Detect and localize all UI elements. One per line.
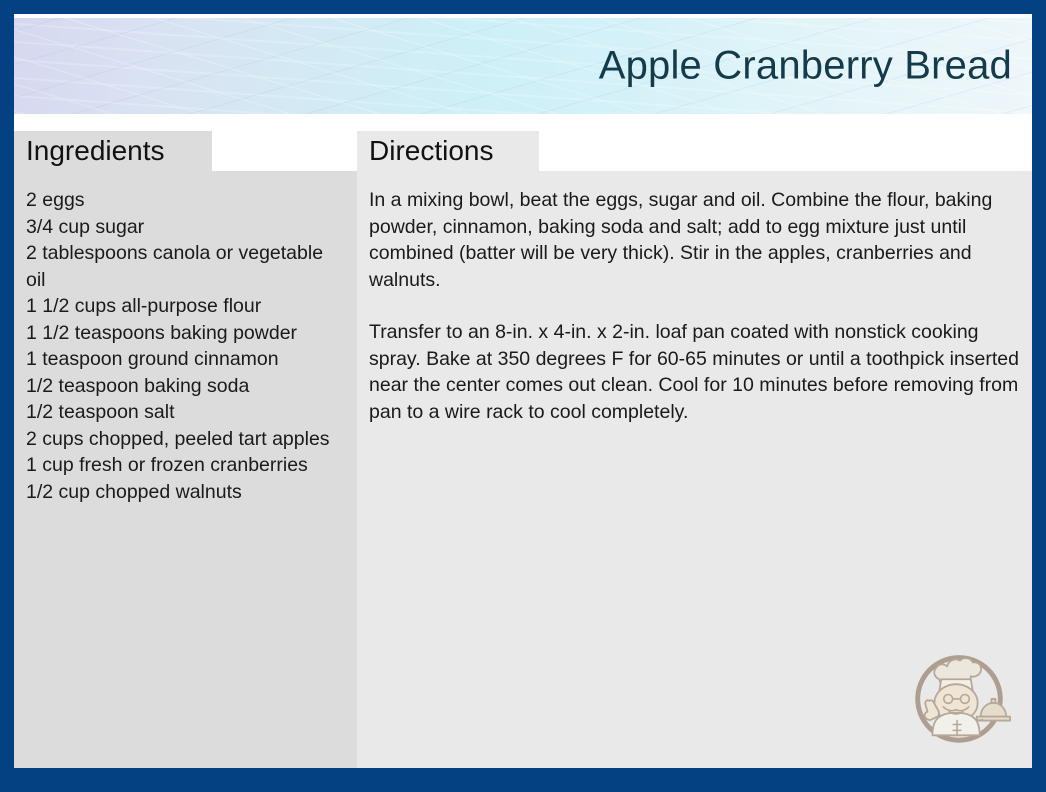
directions-panel: In a mixing bowl, beat the eggs, sugar a… [357, 171, 1032, 768]
ingredient-item: 1/2 teaspoon salt [26, 399, 346, 426]
ingredients-heading: Ingredients [14, 131, 212, 171]
direction-paragraph: Transfer to an 8-in. x 4-in. x 2-in. loa… [369, 319, 1020, 425]
ingredient-item: 1/2 teaspoon baking soda [26, 373, 346, 400]
slide-content-area: Apple Cranberry Bread Ingredients 2 eggs… [14, 14, 1032, 768]
title-banner: Apple Cranberry Bread [14, 18, 1032, 114]
ingredient-item: 1 1/2 cups all-purpose flour [26, 293, 346, 320]
ingredient-item: 1 teaspoon ground cinnamon [26, 346, 346, 373]
page-title: Apple Cranberry Bread [599, 44, 1012, 89]
ingredient-item: 2 cups chopped, peeled tart apples [26, 426, 346, 453]
ingredient-item: 3/4 cup sugar [26, 214, 346, 241]
directions-heading: Directions [357, 131, 539, 171]
ingredient-item: 1 1/2 teaspoons baking powder [26, 320, 346, 347]
ingredient-item: 2 eggs [26, 187, 346, 214]
ingredients-panel: 2 eggs 3/4 cup sugar 2 tablespoons canol… [14, 171, 358, 768]
recipe-slide: Apple Cranberry Bread Ingredients 2 eggs… [0, 0, 1046, 792]
ingredient-item: 2 tablespoons canola or vegetable oil [26, 240, 346, 293]
ingredient-item: 1/2 cup chopped walnuts [26, 479, 346, 506]
direction-paragraph: In a mixing bowl, beat the eggs, sugar a… [369, 187, 1020, 293]
ingredient-item: 1 cup fresh or frozen cranberries [26, 452, 346, 479]
